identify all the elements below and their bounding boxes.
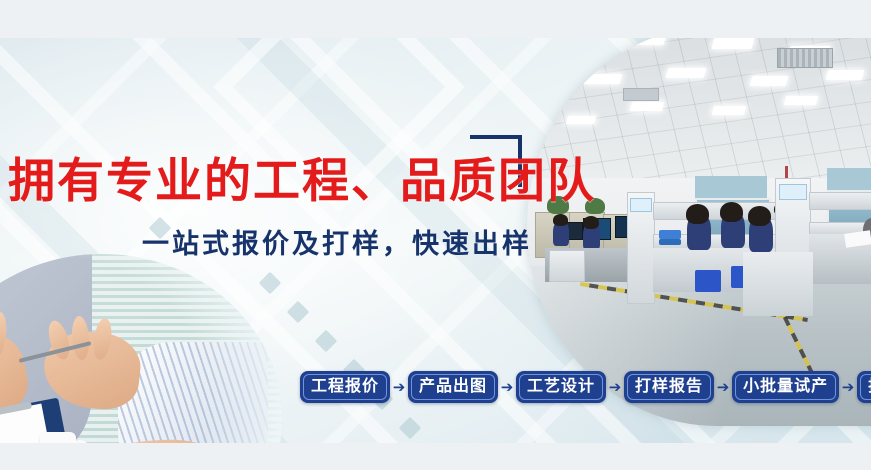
flow-step-label: 工程报价 [311, 379, 379, 395]
flow-step-label: 小批量试产 [743, 379, 828, 395]
flow-step-4[interactable]: 打样报告 [624, 371, 714, 403]
flow-arrow-icon: ➔ [839, 380, 857, 395]
flow-arrow-icon: ➔ [390, 380, 408, 395]
process-flow: 工程报价➔产品出图➔工艺设计➔打样报告➔小批量试产➔批量量产 [300, 371, 871, 403]
flow-step-2[interactable]: 产品出图 [408, 371, 498, 403]
flow-arrow-icon: ➔ [498, 380, 516, 395]
flow-arrow-icon: ➔ [606, 380, 624, 395]
flow-step-6[interactable]: 批量量产 [857, 371, 871, 403]
promo-banner-screen: 拥有专业的工程、品质团队 一站式报价及打样，快速出样 工程报价➔产品出图➔工艺设… [0, 0, 871, 470]
bottom-margin-strip [0, 443, 871, 470]
flow-step-label: 工艺设计 [527, 379, 595, 395]
page-title: 拥有专业的工程、品质团队 [8, 156, 596, 205]
factory-office-photo [527, 38, 871, 426]
banner-body: 拥有专业的工程、品质团队 一站式报价及打样，快速出样 工程报价➔产品出图➔工艺设… [0, 38, 871, 443]
flow-step-label: 产品出图 [419, 379, 487, 395]
flow-arrow-icon: ➔ [714, 380, 732, 395]
flow-step-1[interactable]: 工程报价 [300, 371, 390, 403]
page-subtitle: 一站式报价及打样，快速出样 [142, 222, 532, 261]
flow-step-label: 打样报告 [635, 379, 703, 395]
business-meeting-photo [0, 254, 282, 443]
flow-step-5[interactable]: 小批量试产 [732, 371, 839, 403]
flow-step-3[interactable]: 工艺设计 [516, 371, 606, 403]
top-margin-strip [0, 0, 871, 38]
